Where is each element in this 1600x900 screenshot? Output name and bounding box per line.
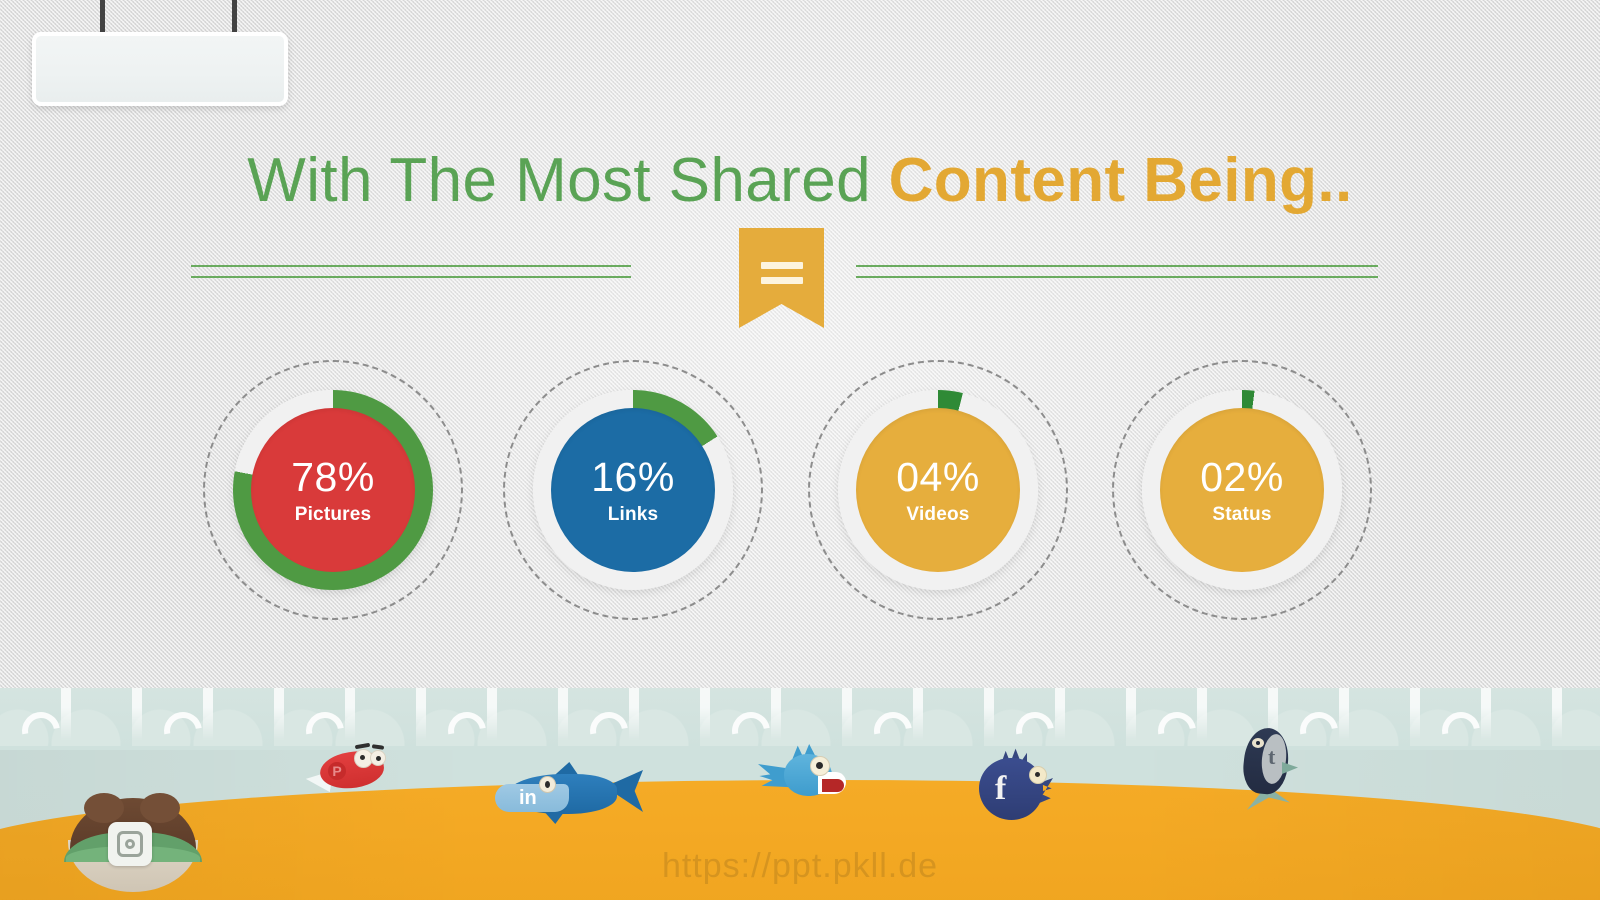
donut-chart-pictures[interactable]: 78% Pictures — [203, 360, 463, 620]
donut-center-disc: 02% Status — [1160, 408, 1324, 572]
wave-spiral-icon — [1016, 712, 1042, 738]
wave-spiral-icon — [1158, 712, 1184, 738]
wave-spiral-icon — [732, 712, 758, 738]
wave-spiral-icon — [590, 712, 616, 738]
wave-spiral-icon — [1300, 712, 1326, 738]
wave-spiral-icon — [306, 712, 332, 738]
divider-rule-right — [856, 265, 1378, 278]
donut-value: 78% — [291, 457, 375, 498]
fish-brow-right — [372, 744, 384, 750]
whale-eye — [1252, 738, 1264, 748]
facebook-glyph: f — [995, 772, 1006, 806]
progress-ring: 04% Videos — [838, 390, 1038, 590]
progress-ring: 16% Links — [533, 390, 733, 590]
ribbon-bar-bottom — [761, 277, 803, 284]
donut-value: 02% — [1200, 457, 1284, 498]
donut-label: Videos — [906, 505, 969, 524]
page-title: With The Most Shared Content Being.. — [0, 148, 1600, 213]
donut-center-disc: 16% Links — [551, 408, 715, 572]
progress-ring: 78% Pictures — [233, 390, 433, 590]
shark-eye — [539, 776, 556, 793]
tumblr-glyph: t — [1268, 746, 1275, 768]
donut-value: 16% — [591, 457, 675, 498]
watermark: https://ppt.pkll.de — [0, 847, 1600, 886]
whale-fin — [1282, 762, 1298, 774]
donut-value: 04% — [896, 457, 980, 498]
donut-label: Pictures — [295, 505, 372, 524]
wave-foam — [0, 688, 1600, 746]
donut-chart-row: 78% Pictures 16% Links 0 — [0, 360, 1600, 640]
wave-spiral-icon — [1442, 712, 1468, 738]
hanging-sign[interactable] — [32, 0, 294, 120]
wave-spiral-icon — [448, 712, 474, 738]
sign-plate[interactable] — [32, 32, 288, 106]
donut-chart-videos[interactable]: 04% Videos — [808, 360, 1068, 620]
donut-chart-links[interactable]: 16% Links — [503, 360, 763, 620]
wave-spiral-icon — [164, 712, 190, 738]
pinterest-fish-icon[interactable]: P — [310, 744, 394, 802]
wave-spiral-icon — [22, 712, 48, 738]
linkedin-shark-icon[interactable]: in — [495, 762, 645, 828]
twitter-birdfish-icon[interactable] — [758, 746, 848, 808]
facebook-pufferfish-icon[interactable]: f — [975, 748, 1057, 824]
donut-center-disc: 04% Videos — [856, 408, 1020, 572]
tumblr-whale-icon[interactable]: t — [1238, 728, 1300, 814]
donut-label: Status — [1212, 505, 1271, 524]
fish-eye-right — [370, 750, 386, 766]
bird-eye — [810, 756, 830, 776]
slide-canvas: With The Most Shared Content Being.. 78%… — [0, 0, 1600, 900]
puffer-eye — [1029, 766, 1047, 784]
donut-label: Links — [608, 505, 659, 524]
divider-rule-left — [191, 265, 631, 278]
donut-chart-status[interactable]: 02% Status — [1112, 360, 1372, 620]
pinterest-glyph: P — [328, 762, 346, 780]
title-part-orange: Content Being.. — [889, 146, 1353, 215]
shark-jaw: in — [495, 784, 569, 812]
linkedin-glyph: in — [519, 787, 537, 809]
donut-center-disc: 78% Pictures — [251, 408, 415, 572]
ribbon-bar-top — [761, 262, 803, 269]
wave-spiral-icon — [874, 712, 900, 738]
title-part-green: With The Most Shared — [247, 146, 871, 215]
progress-ring: 02% Status — [1142, 390, 1342, 590]
